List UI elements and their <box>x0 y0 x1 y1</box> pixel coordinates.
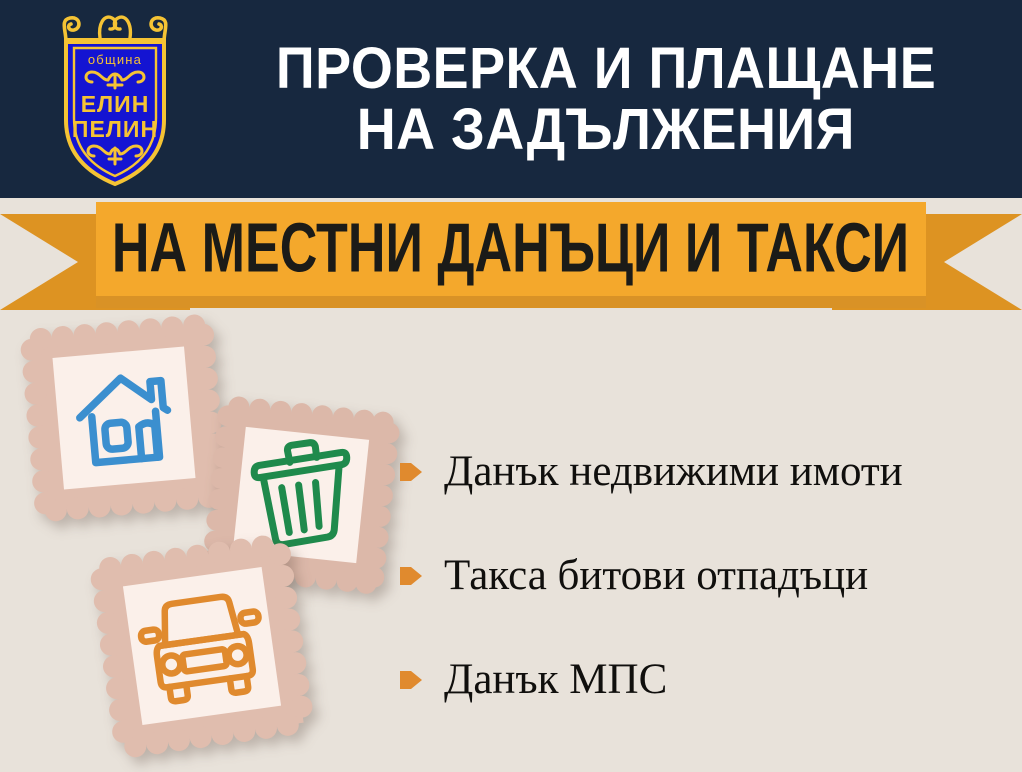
list-item-label: Данък МПС <box>444 656 667 703</box>
list-item[interactable]: Данък недвижими имоти <box>400 420 1010 524</box>
arrow-pentagon-icon <box>400 667 422 693</box>
svg-text:община: община <box>88 52 142 67</box>
ribbon-band: НА МЕСТНИ ДАНЪЦИ И ТАКСИ <box>96 202 926 296</box>
svg-text:ПЕЛИН: ПЕЛИН <box>72 116 158 142</box>
list-item-label: Такса битови отпадъци <box>444 552 868 599</box>
subtitle-ribbon: НА МЕСТНИ ДАНЪЦИ И ТАКСИ <box>0 198 1022 310</box>
list-item[interactable]: Такса битови отпадъци <box>400 524 1010 628</box>
stamp-card-car <box>86 530 318 762</box>
ribbon-label: НА МЕСТНИ ДАНЪЦИ И ТАКСИ <box>112 214 909 283</box>
arrow-pentagon-icon <box>400 563 422 589</box>
list-item[interactable]: Данък МПС <box>400 628 1010 732</box>
title-line-1: ПРОВЕРКА И ПЛАЩАНЕ <box>276 39 936 98</box>
arrow-pentagon-icon <box>400 459 422 485</box>
tax-type-list: Данък недвижими имоти Такса битови отпад… <box>400 420 1010 732</box>
poster-root: община ЕЛИН ПЕЛИН <box>0 0 1022 772</box>
ribbon-shadow <box>96 294 926 308</box>
list-item-label: Данък недвижими имоти <box>444 448 903 495</box>
municipal-coat-of-arms-icon: община ЕЛИН ПЕЛИН <box>44 8 186 190</box>
svg-text:ЕЛИН: ЕЛИН <box>81 91 150 117</box>
poster-title: ПРОВЕРКА И ПЛАЩАНЕ НА ЗАДЪЛЖЕНИЯ <box>190 0 1022 198</box>
stamp-illustrations <box>0 300 420 772</box>
title-line-2: НА ЗАДЪЛЖЕНИЯ <box>357 100 855 159</box>
header-bar: община ЕЛИН ПЕЛИН <box>0 0 1022 198</box>
